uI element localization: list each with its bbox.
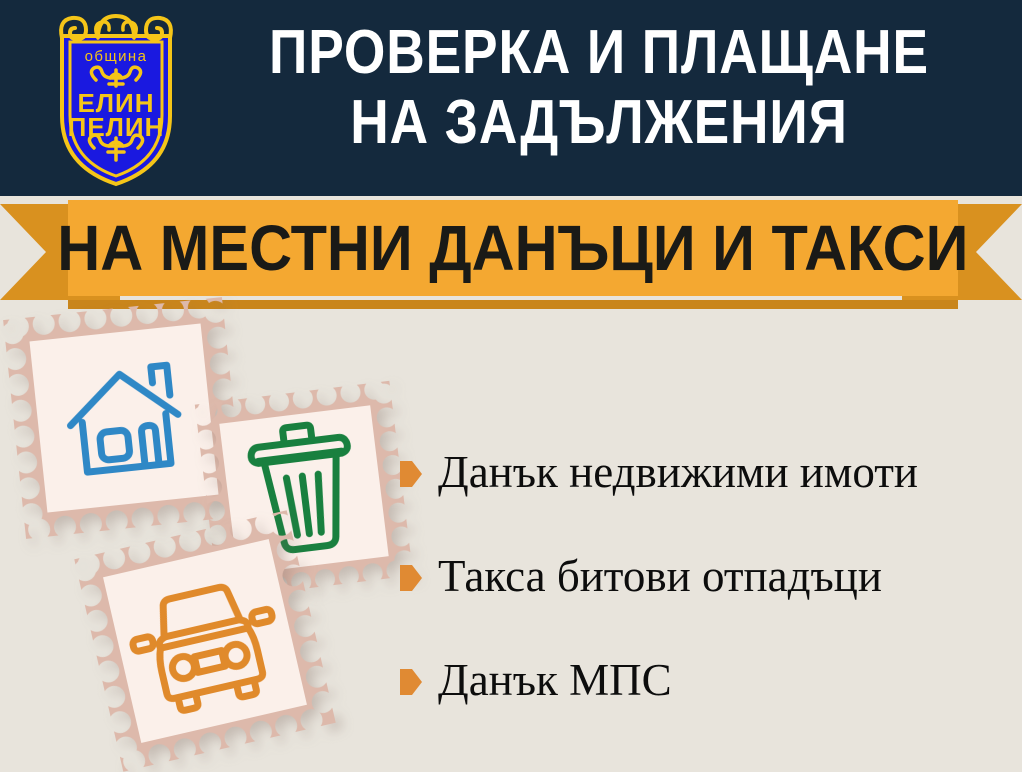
ribbon-label: НА МЕСТНИ ДАНЪЦИ И ТАКСИ (57, 211, 968, 285)
list-item-label: Данък МПС (438, 654, 672, 706)
arrow-bullet-icon (400, 669, 422, 695)
logo-line-small: община (85, 48, 148, 65)
list-item-label: Данък недвижими имоти (438, 446, 918, 498)
list-item[interactable]: Данък недвижими имоти (400, 420, 1010, 524)
arrow-bullet-icon (400, 461, 422, 487)
logo-line-2: ПЕЛИН (68, 112, 165, 142)
page-header: община ЕЛИН ПЕЛИН ПРОВЕРКА И ПЛАЩАНЕ НА … (0, 0, 1022, 196)
header-title-block: ПРОВЕРКА И ПЛАЩАНЕ НА ЗАДЪЛЖЕНИЯ (196, 18, 1002, 158)
arrow-bullet-icon (400, 565, 422, 591)
page-title-line-1: ПРОВЕРКА И ПЛАЩАНЕ (252, 18, 945, 88)
municipality-logo: община ЕЛИН ПЕЛИН (36, 8, 196, 190)
list-item[interactable]: Такса битови отпадъци (400, 524, 1010, 628)
page-title-line-2: НА ЗАДЪЛЖЕНИЯ (252, 88, 945, 158)
tax-type-list: Данък недвижими имоти Такса битови отпад… (400, 420, 1010, 732)
list-item-label: Такса битови отпадъци (438, 550, 882, 602)
list-item[interactable]: Данък МПС (400, 628, 1010, 732)
ribbon-band: НА МЕСТНИ ДАНЪЦИ И ТАКСИ (68, 200, 958, 296)
